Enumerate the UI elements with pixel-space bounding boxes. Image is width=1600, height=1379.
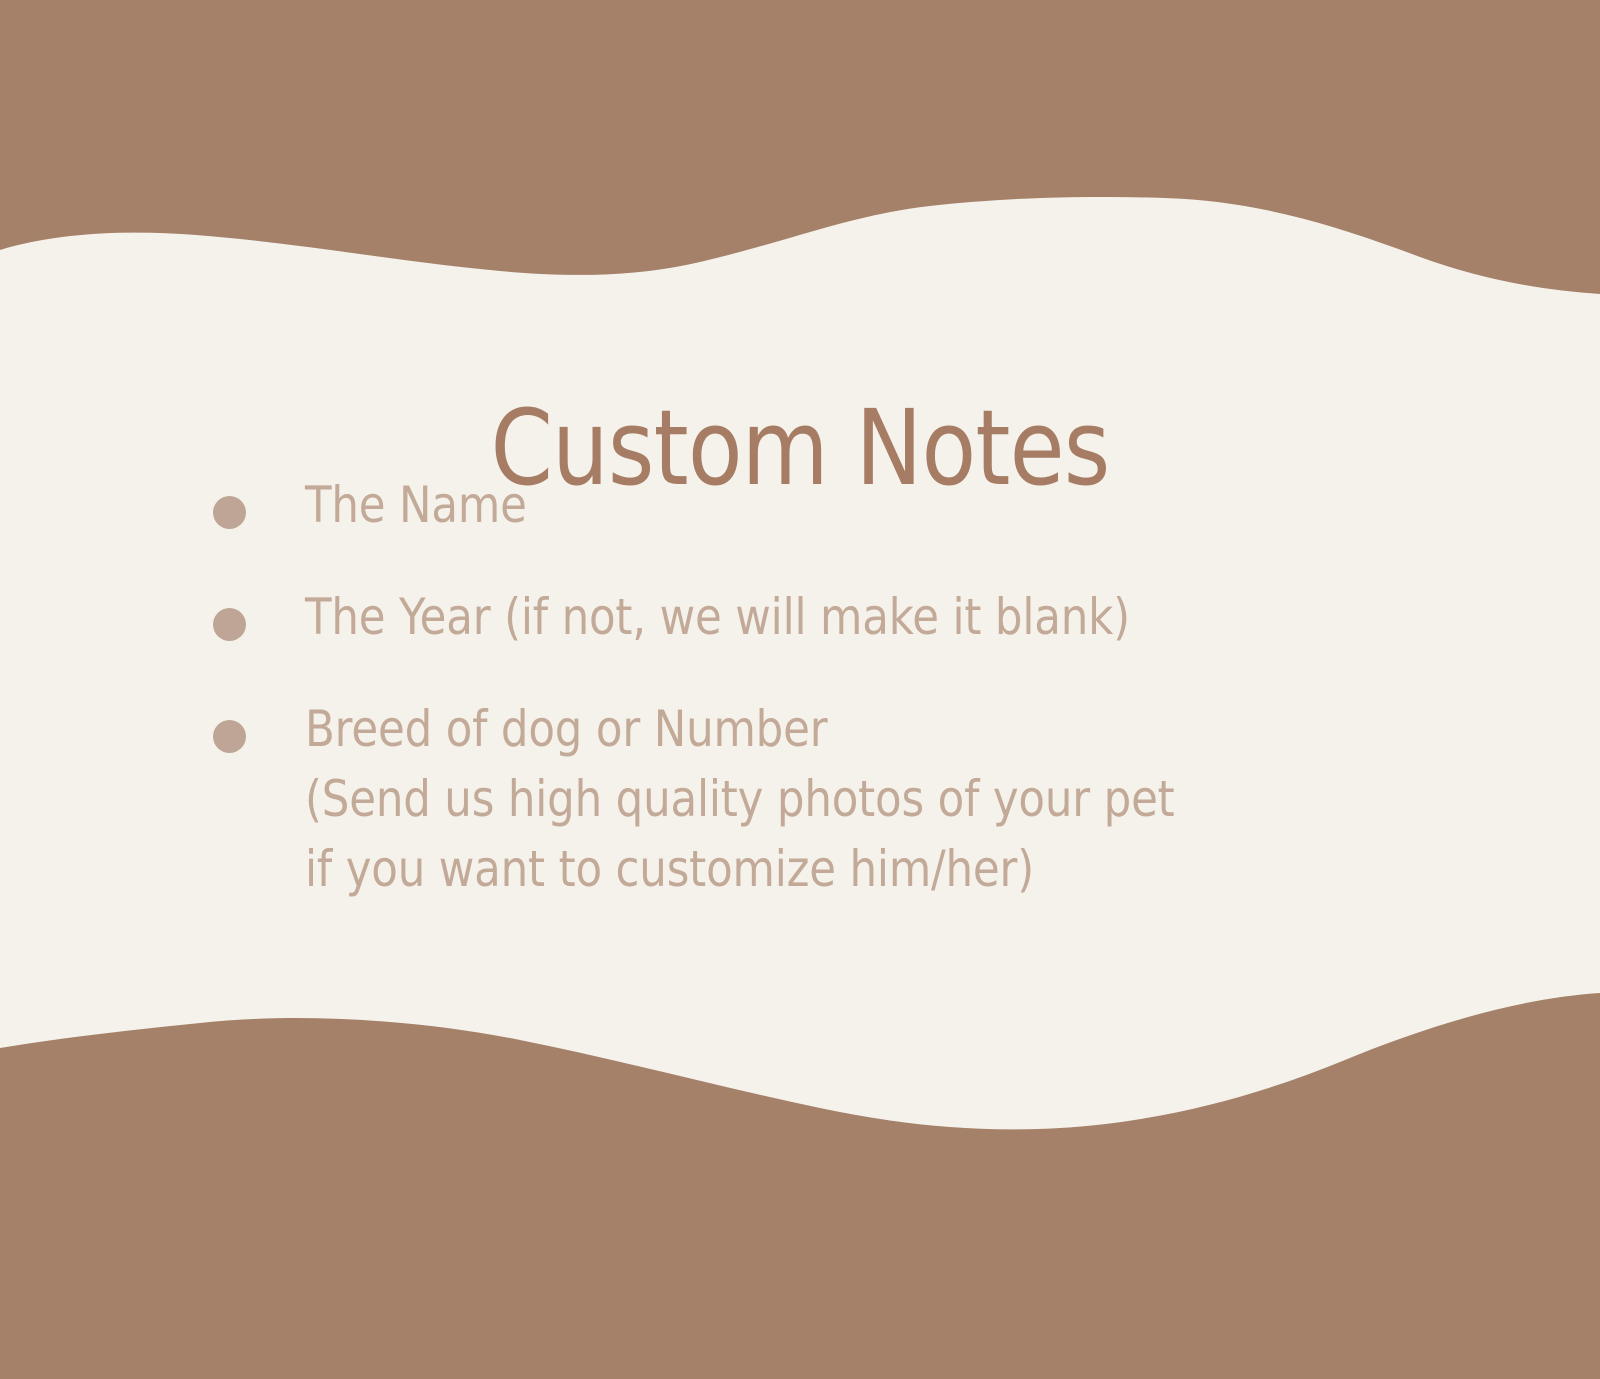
- list-item: The Year (if not, we will make it blank): [0, 582, 1600, 652]
- bullet-dot-icon: [213, 720, 246, 753]
- custom-notes-list: The Name The Year (if not, we will make …: [0, 470, 1600, 904]
- poster-content: Custom Notes The Name The Year (if not, …: [0, 0, 1600, 1379]
- list-item-label: The Name: [305, 470, 1432, 540]
- bullet-dot-icon: [213, 496, 246, 529]
- bullet-dot-icon: [213, 608, 246, 641]
- list-item-label: The Year (if not, we will make it blank): [305, 582, 1432, 652]
- list-item: Breed of dog or Number (Send us high qua…: [0, 694, 1600, 904]
- custom-notes-poster: Custom Notes The Name The Year (if not, …: [0, 0, 1600, 1379]
- list-item-label: Breed of dog or Number (Send us high qua…: [305, 694, 1432, 904]
- list-item: The Name: [0, 470, 1600, 540]
